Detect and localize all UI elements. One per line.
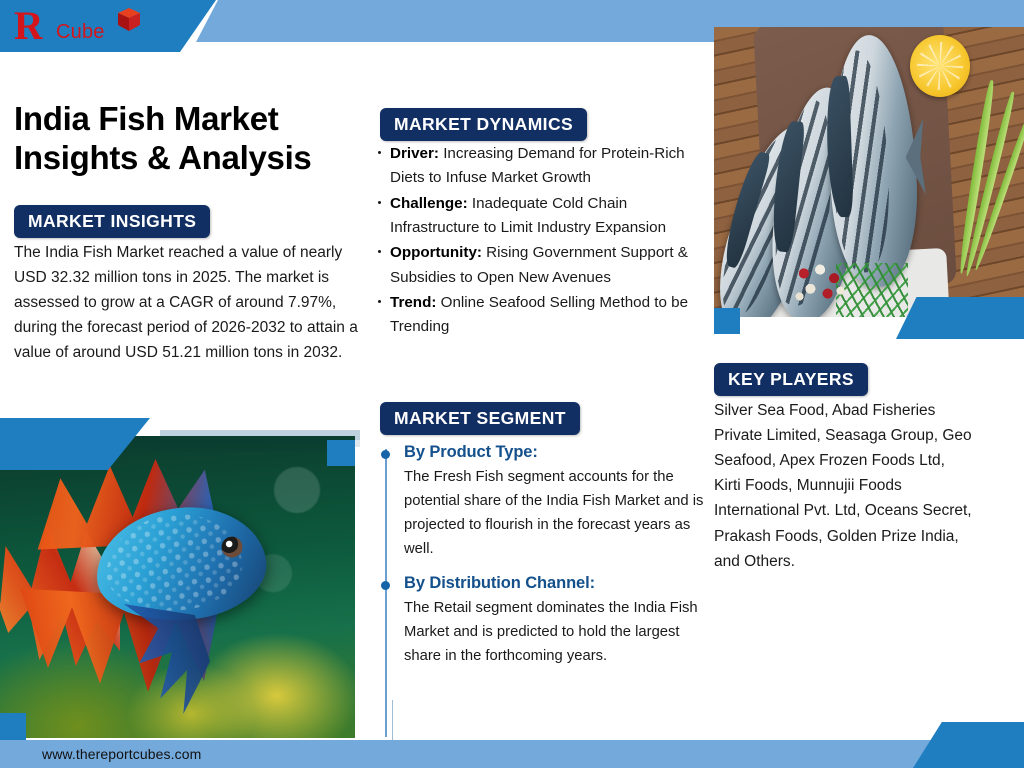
dynamics-label: Opportunity: xyxy=(390,244,482,261)
dill-herb xyxy=(836,263,908,317)
segment-description: The Fresh Fish segment accounts for the … xyxy=(404,466,710,562)
list-item: By Product Type: The Fresh Fish segment … xyxy=(380,443,710,562)
logo-wordmark: Cube xyxy=(56,21,105,44)
market-segment-badge: MARKET SEGMENT xyxy=(380,402,580,435)
page-title-line1: India Fish Market xyxy=(14,100,364,139)
lemon-half xyxy=(910,35,970,97)
accent-square-left xyxy=(0,713,26,740)
market-insights-text: The India Fish Market reached a value of… xyxy=(14,240,359,366)
page-title: India Fish Market Insights & Analysis xyxy=(14,100,364,178)
key-players-text: Silver Sea Food, Abad Fisheries Private … xyxy=(714,398,974,574)
reversed-r-icon: Я xyxy=(14,6,43,46)
page-title-line2: Insights & Analysis xyxy=(14,139,364,178)
list-item: Driver: Increasing Demand for Protein-Ri… xyxy=(376,142,706,191)
footer-website-url[interactable]: www.thereportcubes.com xyxy=(42,746,201,762)
dynamics-label: Trend: xyxy=(390,294,436,311)
key-players-badge: KEY PLAYERS xyxy=(714,363,868,396)
mackerel-fish-image xyxy=(714,27,1024,317)
peppercorns xyxy=(792,259,846,307)
list-item: Challenge: Inadequate Cold Chain Infrast… xyxy=(376,192,706,241)
accent-square-betta xyxy=(327,440,355,466)
market-segment-list: By Product Type: The Fresh Fish segment … xyxy=(380,443,710,681)
list-item: By Distribution Channel: The Retail segm… xyxy=(380,574,710,669)
cube-icon xyxy=(116,7,142,33)
bullet-dot-icon xyxy=(381,450,390,459)
betta-fish-image xyxy=(0,436,355,738)
accent-square-mackerel xyxy=(714,308,740,334)
list-item: Trend: Online Seafood Selling Method to … xyxy=(376,291,706,340)
market-insights-badge: MARKET INSIGHTS xyxy=(14,205,210,238)
accent-parallelogram-right xyxy=(896,297,1024,339)
bullet-dot-icon xyxy=(381,581,390,590)
segment-description: The Retail segment dominates the India F… xyxy=(404,597,710,669)
market-dynamics-list: Driver: Increasing Demand for Protein-Ri… xyxy=(376,142,706,341)
market-dynamics-badge: MARKET DYNAMICS xyxy=(380,108,587,141)
infographic-page: Я Cube India Fish Market Insights & Anal… xyxy=(0,0,1024,768)
accent-parallelogram-footer xyxy=(913,722,1024,768)
brand-logo[interactable]: Я Cube xyxy=(14,4,144,48)
segment-title: By Distribution Channel: xyxy=(404,574,710,593)
segment-title: By Product Type: xyxy=(404,443,710,462)
dynamics-label: Challenge: xyxy=(390,195,468,212)
list-item: Opportunity: Rising Government Support &… xyxy=(376,241,706,290)
dynamics-label: Driver: xyxy=(390,145,439,162)
